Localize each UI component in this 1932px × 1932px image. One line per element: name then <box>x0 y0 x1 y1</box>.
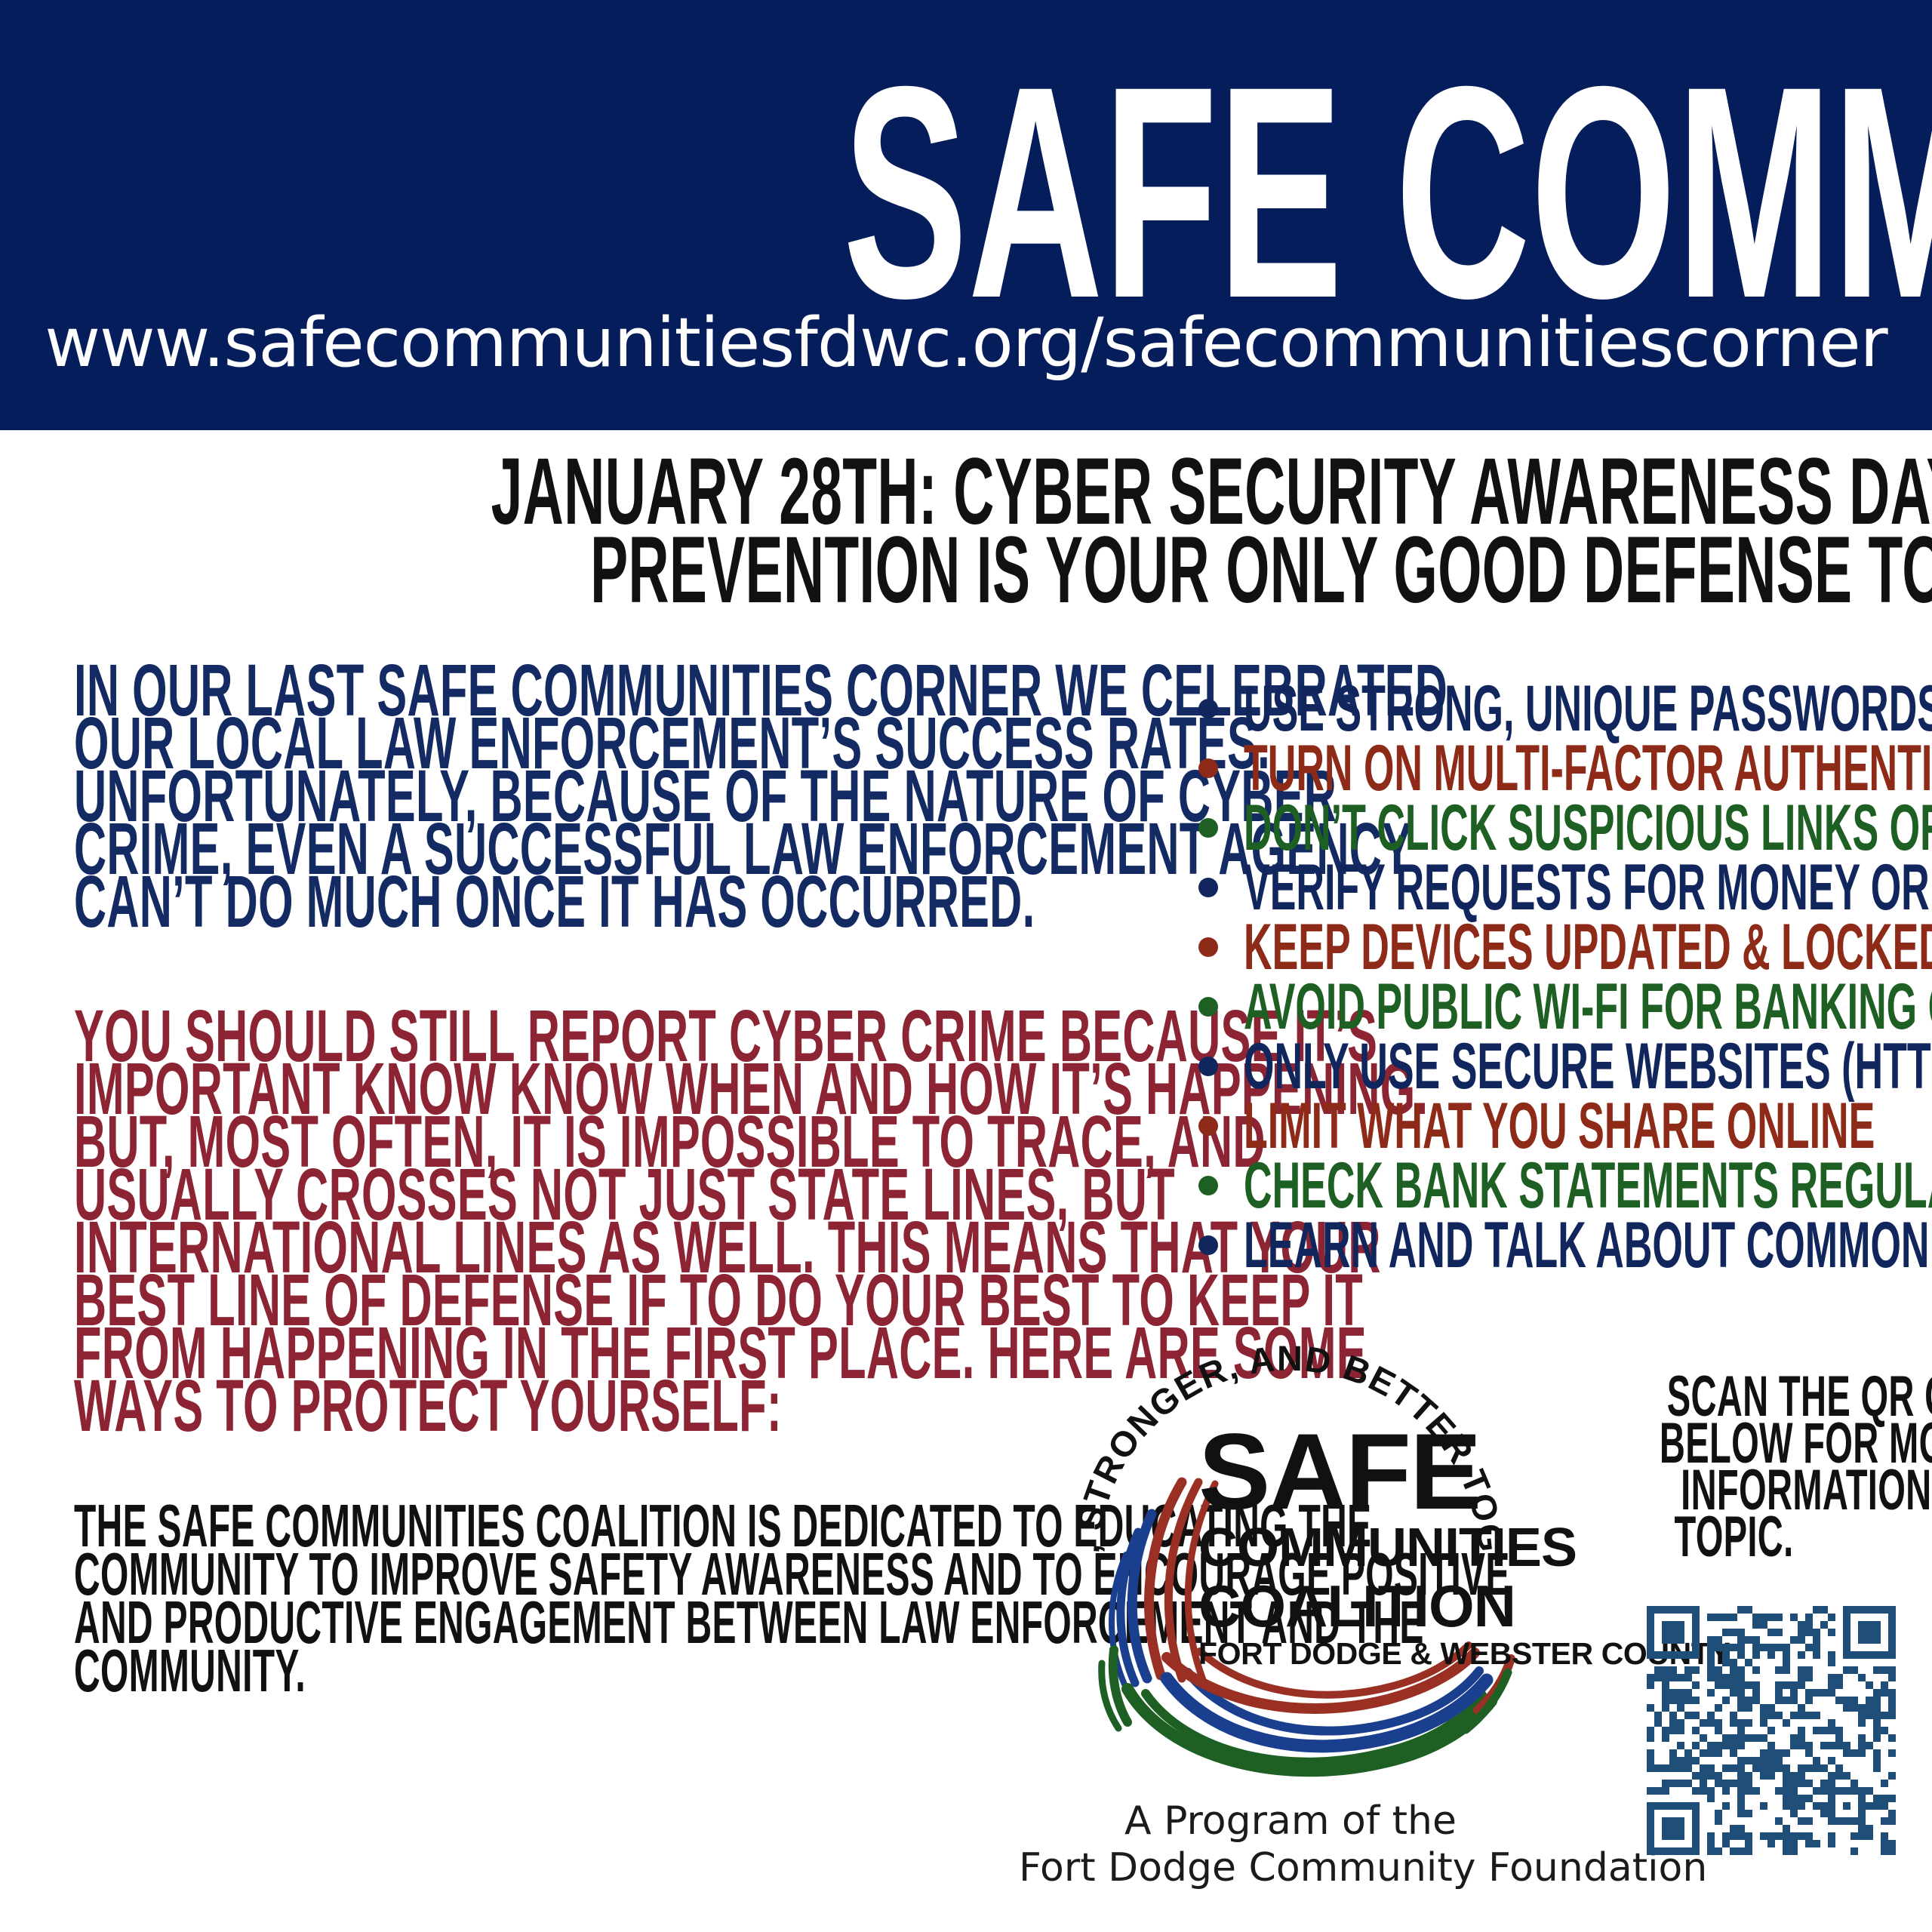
bullet-dot-icon <box>1198 758 1218 778</box>
page-title: SAFE COMMUNITIES CORNER <box>0 83 1932 302</box>
bullet-dot-icon <box>1198 937 1218 957</box>
qr-code-image[interactable] <box>1647 1606 1896 1855</box>
list-item-label: CHECK BANK STATEMENTS REGULARLY <box>1244 1156 1932 1216</box>
list-item: ONLY USE SECURE WEBSITES (HTTPS) <box>1198 1037 1923 1097</box>
paragraph-line: CAN’T DO MUCH ONCE IT HAS OCCURRED. <box>74 875 1123 928</box>
paragraph-reporting: YOU SHOULD STILL REPORT CYBER CRIME BECA… <box>74 1010 1123 1432</box>
bullet-dot-icon <box>1198 818 1218 838</box>
bullet-dot-icon <box>1198 699 1218 718</box>
bullet-dot-icon <box>1198 878 1218 897</box>
logo-communities-text: COMMUNITIES <box>1198 1520 1523 1576</box>
logo-safe-text: SAFE <box>1198 1425 1523 1520</box>
paragraph-line-text: COMMUNITY. <box>74 1647 306 1695</box>
list-item: AVOID PUBLIC WI-FI FOR BANKING OR SHOPPI… <box>1198 977 1923 1037</box>
subtitle-line-2: PREVENTION IS YOUR ONLY GOOD DEFENSE TO … <box>0 540 1932 601</box>
list-item: USE STRONG, UNIQUE PASSWORDS <box>1198 679 1923 739</box>
list-item: DON’T CLICK SUSPICIOUS LINKS OR ATTACHME… <box>1198 798 1923 858</box>
list-item: TURN ON MULTI-FACTOR AUTHENTICATION <box>1198 739 1923 798</box>
safe-communities-coalition-logo: SAFER, STRONGER, AND BETTER TOGETHER SAF… <box>1055 1334 1523 1787</box>
logo-county-text: FORT DODGE & WEBSTER COUNTY <box>1198 1636 1523 1671</box>
event-subtitle: JANUARY 28TH: CYBER SECURITY AWARENESS D… <box>0 462 1932 601</box>
list-item: KEEP DEVICES UPDATED & LOCKED <box>1198 918 1923 977</box>
subtitle-line-1-text: JANUARY 28TH: CYBER SECURITY AWARENESS D… <box>491 462 1932 522</box>
list-item: VERIFY REQUESTS FOR MONEY OR PERSONAL IN… <box>1198 858 1923 918</box>
bullet-dot-icon <box>1198 1235 1218 1255</box>
list-item-label: AVOID PUBLIC WI-FI FOR BANKING OR SHOPPI… <box>1244 977 1932 1037</box>
list-item: LEARN AND TALK ABOUT COMMON SCAMS <box>1198 1216 1923 1275</box>
website-url-text[interactable]: www.safecommunitiesfdwc.org/safecommunit… <box>45 303 1887 383</box>
bullet-dot-icon <box>1198 1176 1218 1195</box>
bullet-dot-icon <box>1198 1057 1218 1076</box>
paragraph-intro: IN OUR LAST SAFE COMMUNITIES CORNER WE C… <box>74 664 1123 928</box>
paragraph-line-text: WAYS TO PROTECT YOURSELF: <box>74 1380 782 1432</box>
list-item: LIMIT WHAT YOU SHARE ONLINE <box>1198 1097 1923 1156</box>
header-banner: SAFE COMMUNITIES CORNER www.safecommunit… <box>0 0 1932 430</box>
list-item-label: KEEP DEVICES UPDATED & LOCKED <box>1244 918 1932 977</box>
bullet-dot-icon <box>1198 1116 1218 1136</box>
page-title-text: SAFE COMMUNITIES CORNER <box>843 83 1932 302</box>
qr-code[interactable] <box>1647 1606 1896 1855</box>
program-attribution-line-2: Fort Dodge Community Foundation <box>1019 1844 1562 1891</box>
cyber-safety-tips-list: USE STRONG, UNIQUE PASSWORDS TURN ON MUL… <box>1198 679 1923 1275</box>
program-attribution: A Program of the Fort Dodge Community Fo… <box>1019 1798 1562 1891</box>
subtitle-line-1: JANUARY 28TH: CYBER SECURITY AWARENESS D… <box>0 462 1932 522</box>
list-item: CHECK BANK STATEMENTS REGULARLY <box>1198 1156 1923 1216</box>
paragraph-line-text: CAN’T DO MUCH ONCE IT HAS OCCURRED. <box>74 875 1035 928</box>
list-item-label: TURN ON MULTI-FACTOR AUTHENTICATION <box>1244 739 1932 798</box>
article-body: IN OUR LAST SAFE COMMUNITIES CORNER WE C… <box>74 664 1123 1695</box>
qr-instruction-line-text: TOPIC. <box>1674 1514 1793 1561</box>
paragraph-mission: THE SAFE COMMUNITIES COALITION IS DEDICA… <box>74 1502 1123 1695</box>
logo-coalition-text: COALITION <box>1198 1576 1523 1636</box>
qr-instructions: SCAN THE QR CODE BELOW FOR MORE INFORMAT… <box>1556 1374 1911 1561</box>
list-item-label: DON’T CLICK SUSPICIOUS LINKS OR ATTACHME… <box>1244 798 1932 858</box>
list-item-label: VERIFY REQUESTS FOR MONEY OR PERSONAL IN… <box>1244 858 1932 918</box>
list-item-label: LIMIT WHAT YOU SHARE ONLINE <box>1244 1097 1875 1156</box>
subtitle-line-2-text: PREVENTION IS YOUR ONLY GOOD DEFENSE TO … <box>590 540 1932 601</box>
bullet-dot-icon <box>1198 997 1218 1017</box>
list-item-label: ONLY USE SECURE WEBSITES (HTTPS) <box>1244 1037 1932 1097</box>
logo-wordmark: SAFE COMMUNITIES COALITION FORT DODGE & … <box>1198 1425 1523 1671</box>
website-url[interactable]: www.safecommunitiesfdwc.org/safecommunit… <box>0 302 1932 385</box>
list-item-label: USE STRONG, UNIQUE PASSWORDS <box>1244 679 1932 739</box>
list-item-label: LEARN AND TALK ABOUT COMMON SCAMS <box>1244 1216 1932 1275</box>
program-attribution-line-1: A Program of the <box>1019 1798 1562 1844</box>
